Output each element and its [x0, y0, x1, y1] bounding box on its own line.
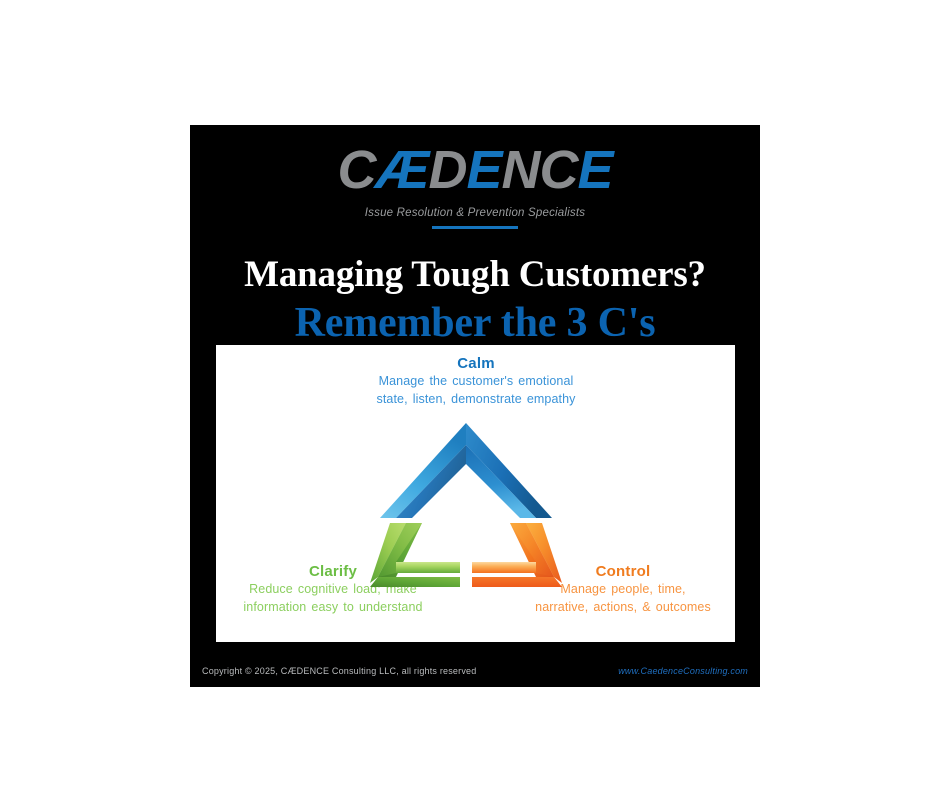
logo-letter-n: N [502, 140, 540, 200]
brand-divider-rule [432, 226, 518, 229]
clarify-description-line2: information easy to understand [208, 598, 458, 616]
logo-letter-e1: E [466, 140, 501, 200]
triangle-svg [366, 417, 566, 589]
website-link[interactable]: www.CaedenceConsulting.com [618, 666, 748, 676]
calm-title: Calm [242, 355, 710, 372]
logo-letter-c2: C [540, 140, 578, 200]
triangle-segment-clarify [370, 523, 460, 587]
three-cs-triangle-graphic [366, 417, 566, 589]
logo-letter-d: D [428, 140, 466, 200]
logo-letter-e2: E [578, 140, 613, 200]
segment-label-calm: Calm Manage the customer's emotional sta… [242, 355, 710, 409]
brand-tagline: Issue Resolution & Prevention Specialist… [190, 207, 760, 219]
triangle-segment-control [472, 523, 562, 587]
brand-lockup: CÆDENCE Issue Resolution & Prevention Sp… [190, 143, 760, 229]
headline-primary: Managing Tough Customers? [190, 253, 760, 296]
caedence-logo: CÆDENCE [337, 143, 612, 197]
triangle-segment-calm [380, 423, 552, 518]
logo-letter-c1: C [337, 140, 375, 200]
poster-footer: Copyright © 2025, CÆDENCE Consulting LLC… [190, 659, 760, 687]
headline-secondary: Remember the 3 C's [190, 299, 760, 347]
calm-description-line2: state, listen, demonstrate empathy [242, 390, 710, 408]
diagram-card: Calm Manage the customer's emotional sta… [216, 345, 735, 642]
logo-letter-ae: Æ [375, 140, 428, 200]
poster-canvas: CÆDENCE Issue Resolution & Prevention Sp… [0, 0, 948, 798]
poster-panel: CÆDENCE Issue Resolution & Prevention Sp… [190, 125, 760, 687]
control-description-line2: narrative, actions, & outcomes [498, 598, 748, 616]
calm-description-line1: Manage the customer's emotional [242, 372, 710, 390]
copyright-text: Copyright © 2025, CÆDENCE Consulting LLC… [202, 666, 476, 676]
